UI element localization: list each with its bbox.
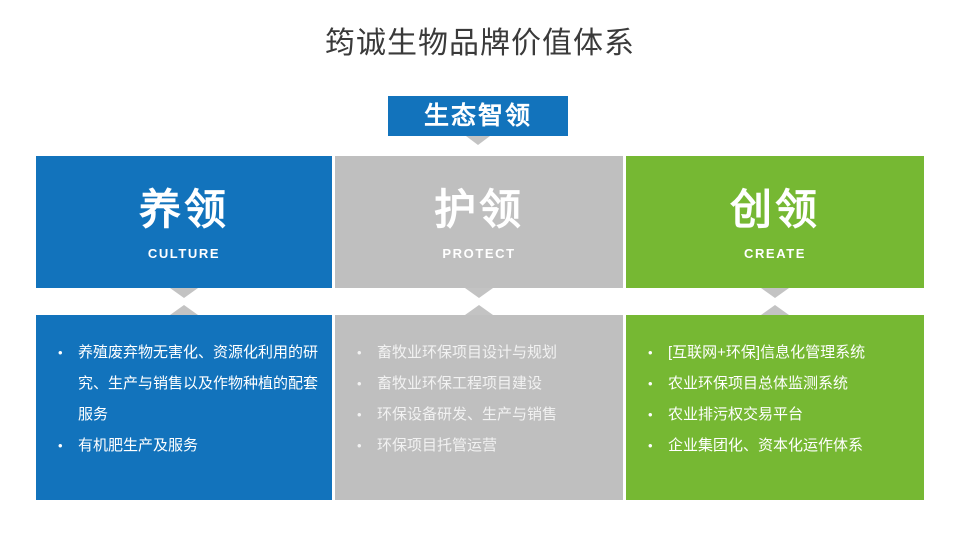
- list-item: 养殖废弃物无害化、资源化利用的研究、生产与销售以及作物种植的配套服务: [50, 337, 318, 430]
- value-column-protect-body: 畜牧业环保项目设计与规划 畜牧业环保工程项目建设 环保设备研发、生产与销售 环保…: [335, 315, 623, 500]
- value-column-create-body: [互联网+环保]信息化管理系统 农业环保项目总体监测系统 农业排污权交易平台 企…: [626, 315, 924, 500]
- chevron-down-icon: [465, 288, 493, 298]
- value-column-create-list: [互联网+环保]信息化管理系统 农业环保项目总体监测系统 农业排污权交易平台 企…: [640, 337, 910, 461]
- page-title: 筠诚生物品牌价值体系: [0, 24, 960, 64]
- chevron-down-icon: [761, 288, 789, 298]
- chevron-up-icon: [170, 305, 198, 315]
- list-item: [互联网+环保]信息化管理系统: [640, 337, 910, 368]
- value-column-protect[interactable]: 护领 PROTECT 畜牧业环保项目设计与规划 畜牧业环保工程项目建设 环保设备…: [335, 156, 623, 500]
- list-item: 农业环保项目总体监测系统: [640, 368, 910, 399]
- value-column-culture-body: 养殖废弃物无害化、资源化利用的研究、生产与销售以及作物种植的配套服务 有机肥生产…: [36, 315, 332, 500]
- ecology-banner-label: 生态智领: [424, 96, 532, 136]
- ecology-banner: 生态智领: [388, 96, 568, 136]
- value-column-protect-title-en: PROTECT: [442, 246, 515, 261]
- value-column-protect-list: 畜牧业环保项目设计与规划 畜牧业环保工程项目建设 环保设备研发、生产与销售 环保…: [349, 337, 609, 461]
- value-column-culture-list: 养殖废弃物无害化、资源化利用的研究、生产与销售以及作物种植的配套服务 有机肥生产…: [50, 337, 318, 461]
- value-column-protect-header: 护领 PROTECT: [335, 156, 623, 288]
- list-item: 有机肥生产及服务: [50, 430, 318, 461]
- value-column-culture[interactable]: 养领 CULTURE 养殖废弃物无害化、资源化利用的研究、生产与销售以及作物种植…: [36, 156, 332, 500]
- list-item: 环保设备研发、生产与销售: [349, 399, 609, 430]
- value-column-culture-title-en: CULTURE: [148, 246, 220, 261]
- chevron-up-icon: [761, 305, 789, 315]
- chevron-down-icon: [466, 136, 490, 145]
- value-system-columns: 养领 CULTURE 养殖废弃物无害化、资源化利用的研究、生产与销售以及作物种植…: [36, 156, 924, 500]
- value-column-create-title-en: CREATE: [744, 246, 806, 261]
- list-item: 畜牧业环保工程项目建设: [349, 368, 609, 399]
- value-column-create[interactable]: 创领 CREATE [互联网+环保]信息化管理系统 农业环保项目总体监测系统 农…: [626, 156, 924, 500]
- chevron-up-icon: [465, 305, 493, 315]
- chevron-down-icon: [170, 288, 198, 298]
- value-column-protect-title-cn: 护领: [434, 184, 524, 236]
- value-column-create-title-cn: 创领: [730, 184, 820, 236]
- value-column-culture-title-cn: 养领: [139, 184, 229, 236]
- list-item: 农业排污权交易平台: [640, 399, 910, 430]
- list-item: 环保项目托管运营: [349, 430, 609, 461]
- value-column-culture-header: 养领 CULTURE: [36, 156, 332, 288]
- list-item: 畜牧业环保项目设计与规划: [349, 337, 609, 368]
- value-column-create-header: 创领 CREATE: [626, 156, 924, 288]
- list-item: 企业集团化、资本化运作体系: [640, 430, 910, 461]
